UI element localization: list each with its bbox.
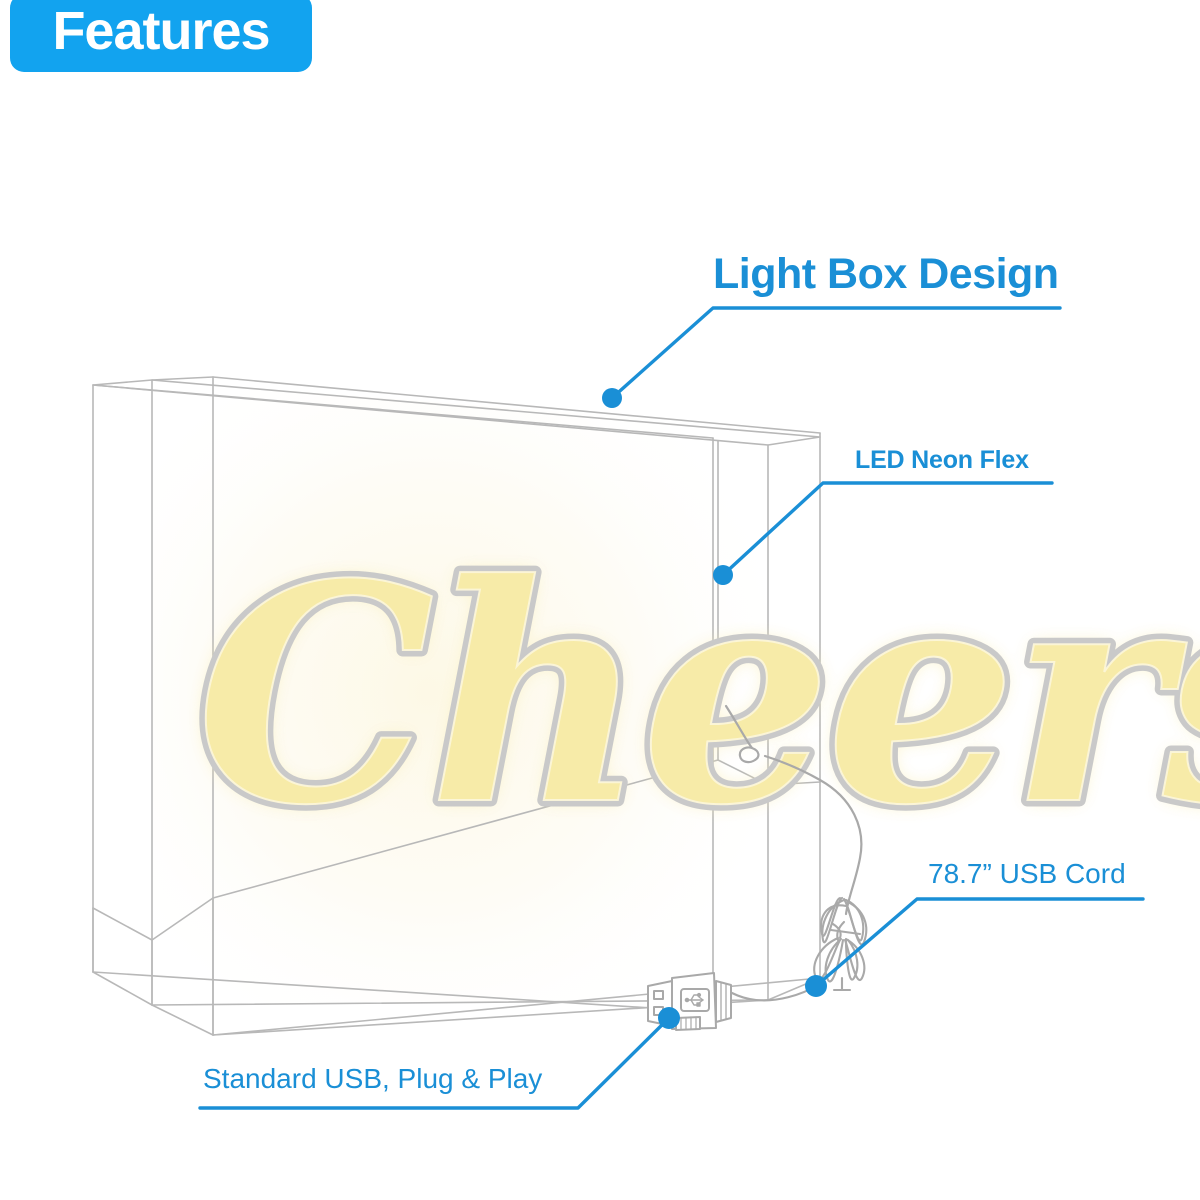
dot-light-box-design [602, 388, 622, 408]
neon-cheers-sign: Cheers Cheers Cheers Cheers [196, 518, 1200, 871]
leader-usb-cord [816, 899, 1143, 986]
features-diagram: Features [0, 0, 1200, 1200]
leader-light-box-design [612, 308, 1060, 398]
svg-text:Cheers: Cheers [196, 518, 1200, 871]
product-illustration: Cheers Cheers Cheers Cheers [0, 0, 1200, 1200]
callout-label-standard-usb: Standard USB, Plug & Play [203, 1065, 542, 1093]
dot-usb-cord [805, 975, 827, 997]
dot-standard-usb [658, 1007, 680, 1029]
dot-led-neon-flex [713, 565, 733, 585]
usb-strain-relief [716, 981, 731, 1022]
usb-tip-hole-1 [654, 991, 663, 999]
callout-label-light-box-design: Light Box Design [713, 253, 1059, 296]
callout-label-led-neon-flex: LED Neon Flex [855, 448, 1029, 473]
callout-label-usb-cord: 78.7” USB Cord [928, 860, 1126, 888]
